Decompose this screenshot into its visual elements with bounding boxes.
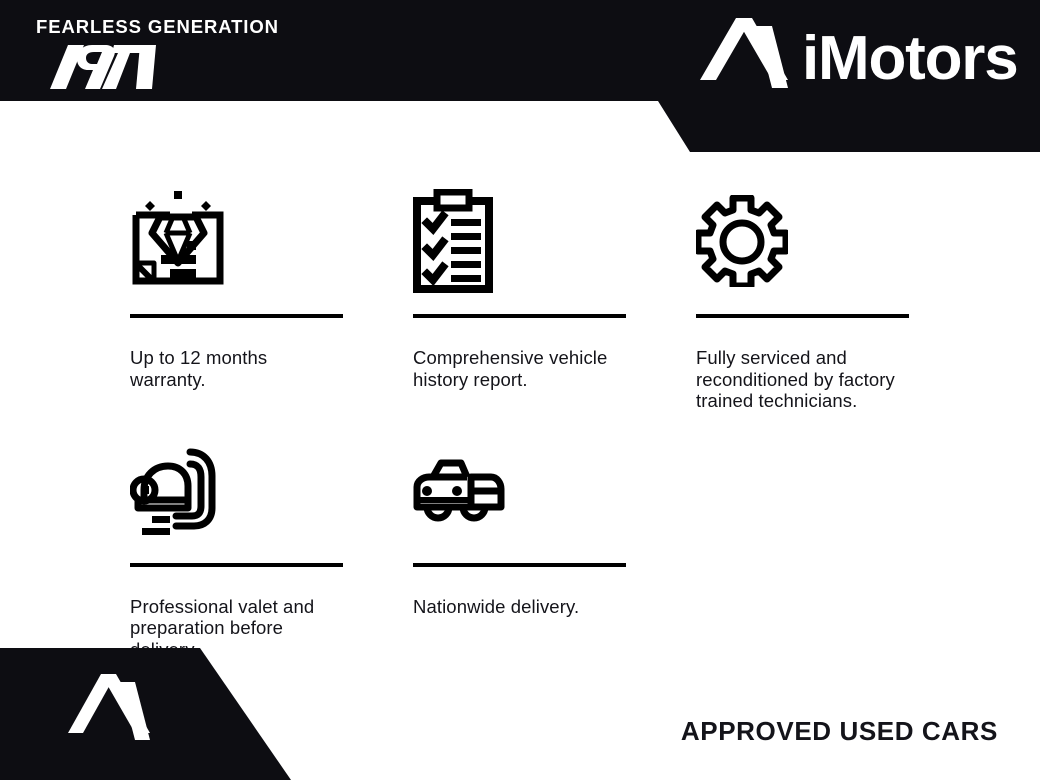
- year-1971-logo: [36, 45, 156, 89]
- marketing-banner: FEARLESS GENERATION iMotors: [0, 0, 1040, 780]
- checklist-clipboard-icon: [413, 186, 626, 296]
- divider: [413, 563, 626, 567]
- campaign-block: FEARLESS GENERATION: [36, 18, 356, 94]
- brand-lockup: iMotors: [700, 18, 1017, 100]
- car-transporter-truck-icon: [413, 435, 626, 545]
- brand-name: iMotors: [802, 28, 1017, 90]
- divider: [413, 314, 626, 318]
- header-bar: FEARLESS GENERATION iMotors: [0, 0, 1040, 155]
- feature-grid: Up to 12 months warranty.: [130, 186, 930, 660]
- footer-tagline: APPROVED USED CARS: [681, 716, 998, 747]
- imotors-chevron-icon: [700, 18, 788, 100]
- feature-row: Up to 12 months warranty.: [130, 186, 930, 412]
- footer-accent-shape: [0, 648, 300, 780]
- feature-item-warranty: Up to 12 months warranty.: [130, 186, 343, 390]
- vacuum-cleaner-icon: [130, 435, 343, 545]
- feature-item-history-report: Comprehensive vehicle history report.: [413, 186, 626, 390]
- feature-label: Up to 12 months warranty.: [130, 347, 343, 390]
- campaign-headline: FEARLESS GENERATION: [36, 18, 356, 37]
- feature-label: Nationwide delivery.: [413, 596, 626, 618]
- warranty-certificate-icon: [130, 186, 343, 296]
- feature-label: Comprehensive vehicle history report.: [413, 347, 626, 390]
- imotors-chevron-icon: [68, 674, 150, 752]
- feature-item-servicing: Fully serviced and reconditioned by fact…: [696, 186, 909, 412]
- divider: [130, 563, 343, 567]
- feature-row: Professional valet and preparation befor…: [130, 435, 930, 661]
- feature-item-delivery: Nationwide delivery.: [413, 435, 626, 618]
- feature-item-valet: Professional valet and preparation befor…: [130, 435, 343, 661]
- divider: [696, 314, 909, 318]
- divider: [130, 314, 343, 318]
- feature-label: Fully serviced and reconditioned by fact…: [696, 347, 909, 412]
- gear-cog-icon: [696, 186, 909, 296]
